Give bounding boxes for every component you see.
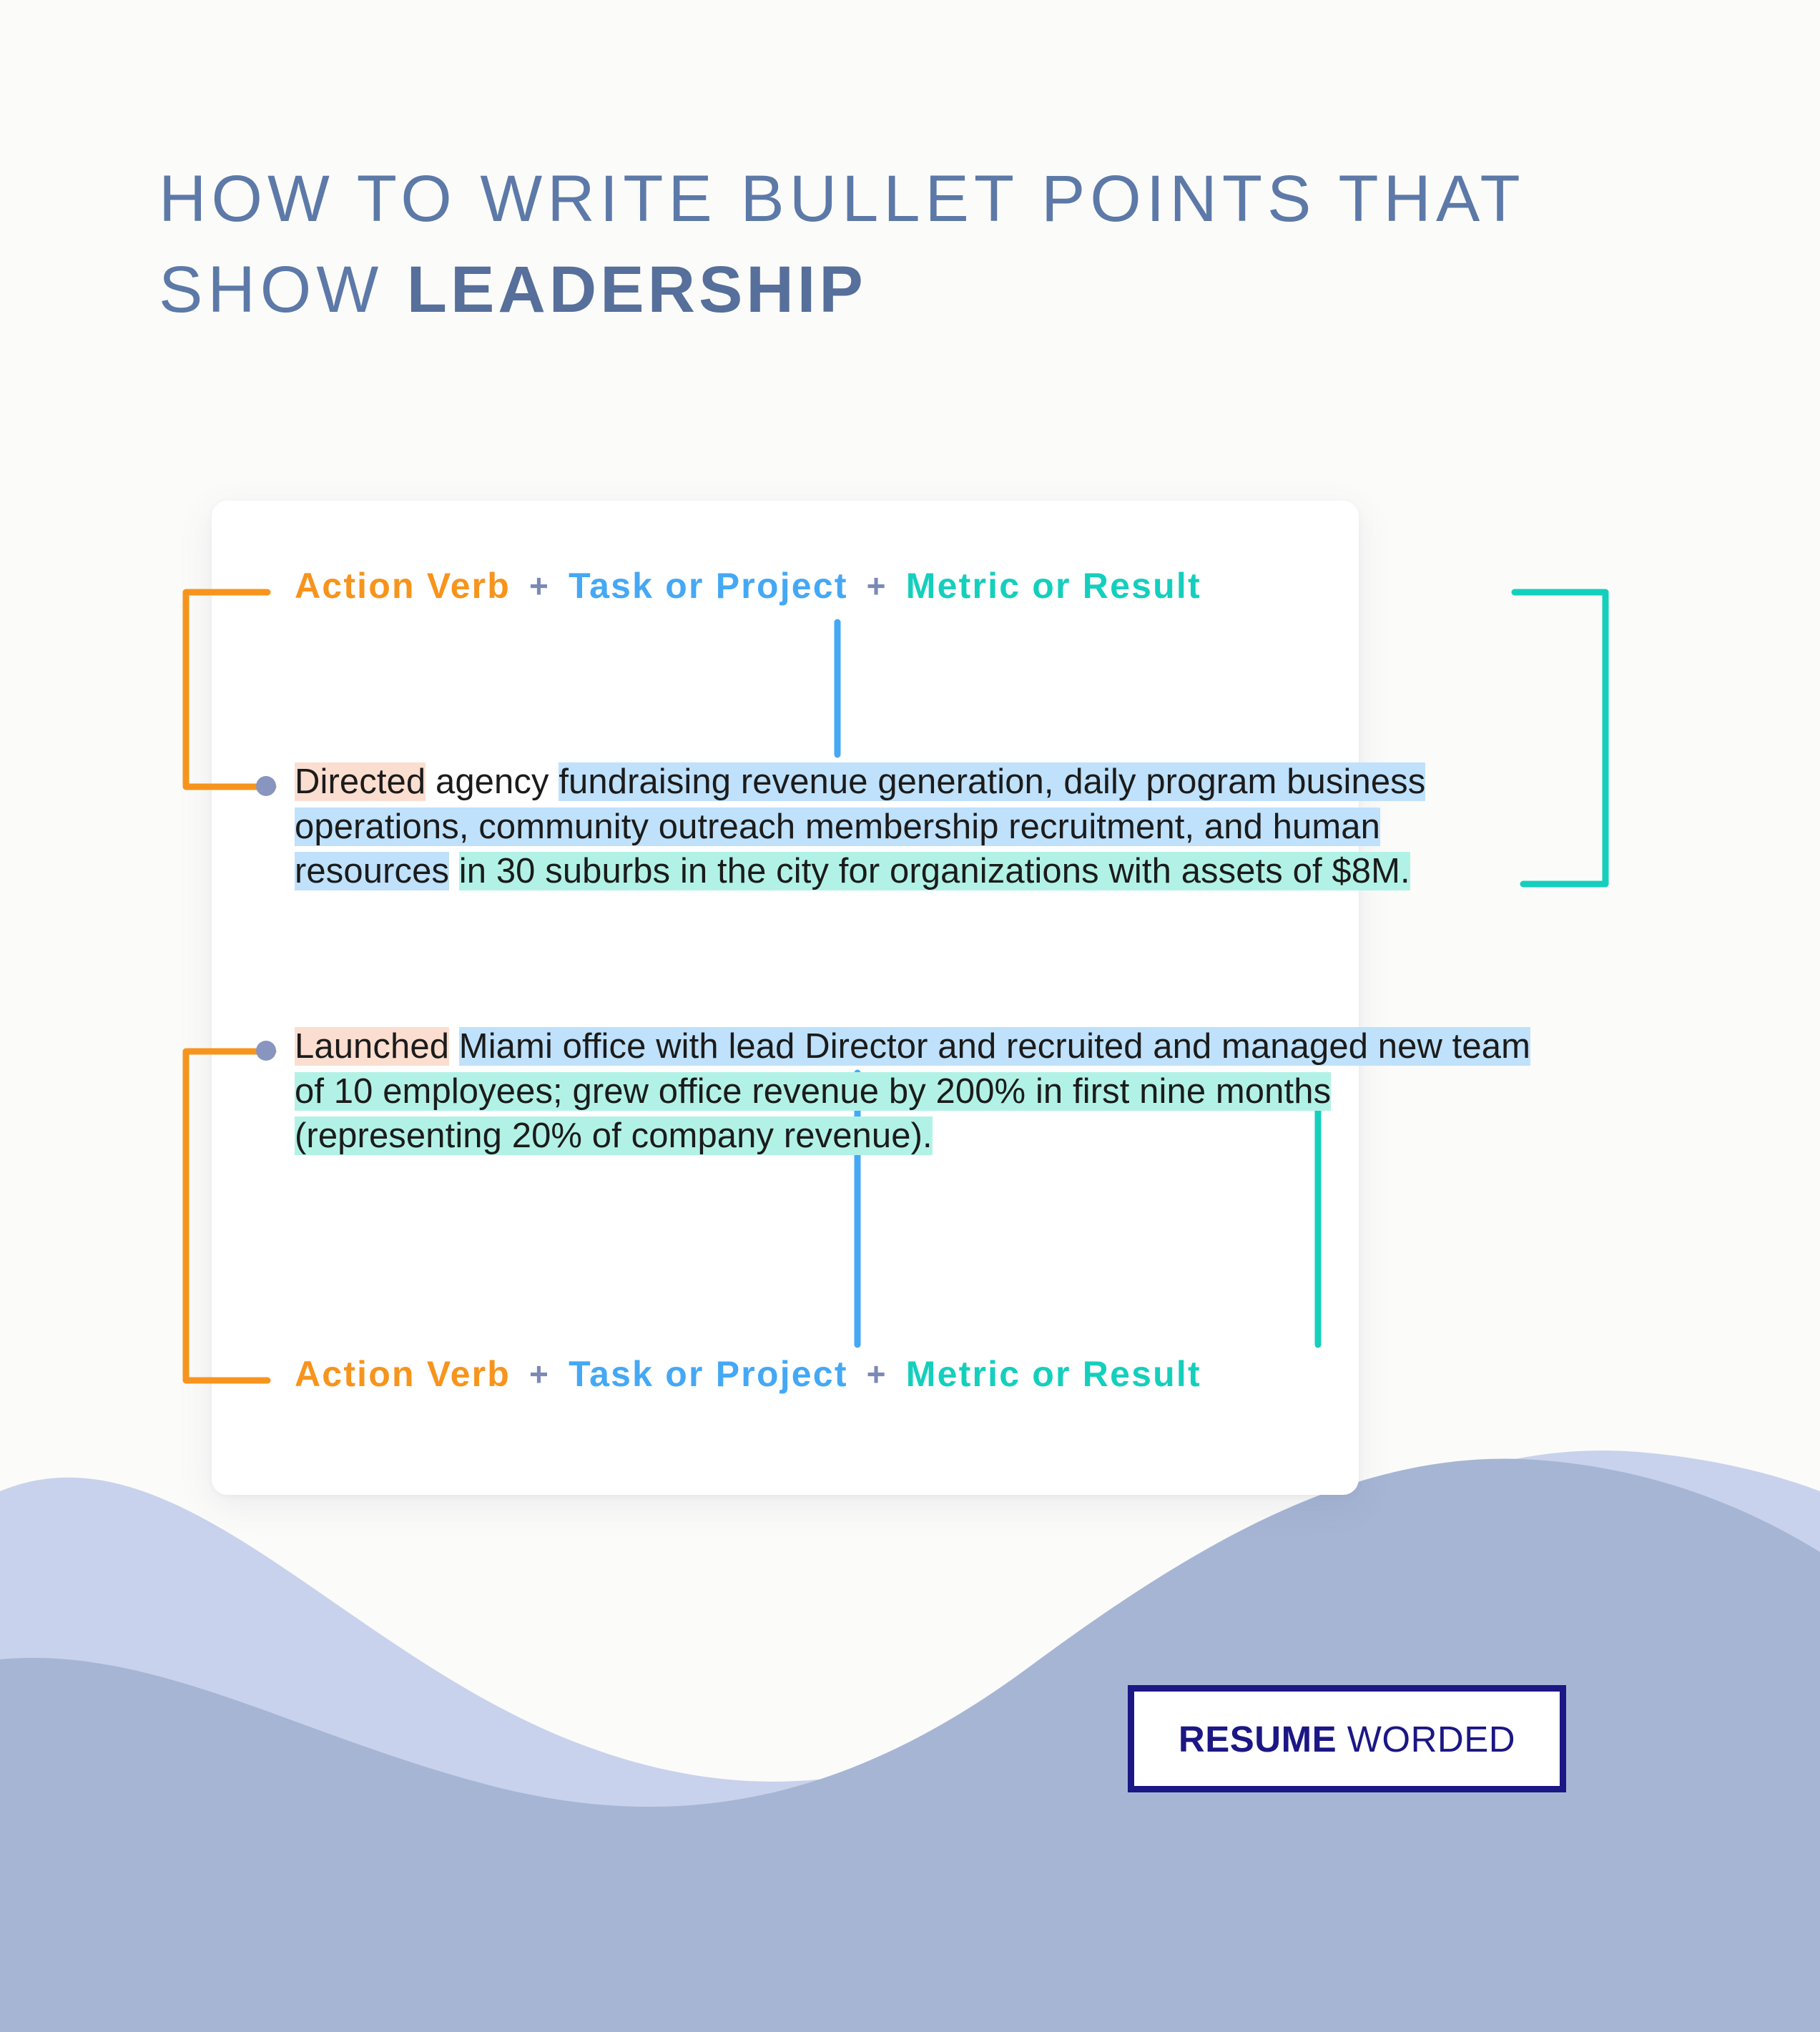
legend-top: Action Verb + Task or Project + Metric o… xyxy=(295,565,1201,607)
title-line-2-plain: SHOW xyxy=(159,253,407,326)
legend-action-verb-bottom: Action Verb xyxy=(295,1353,511,1395)
legend-task-or-project-top: Task or Project xyxy=(569,565,848,607)
bullet-point-1: Directed agency fundraising revenue gene… xyxy=(295,760,1540,894)
resume-worded-logo: RESUME WORDED xyxy=(1128,1685,1566,1792)
legend-plus-2-bottom: + xyxy=(867,1355,887,1393)
legend-bottom: Action Verb + Task or Project + Metric o… xyxy=(295,1353,1201,1395)
legend-plus-1-bottom: + xyxy=(529,1355,550,1393)
legend-plus-1-top: + xyxy=(529,566,550,605)
bullet-point-2: Launched Miami office with lead Director… xyxy=(295,1024,1540,1159)
content-card xyxy=(212,501,1359,1495)
legend-metric-or-result-bottom: Metric or Result xyxy=(906,1353,1201,1395)
bullet-2-action-verb: Launched xyxy=(295,1027,449,1066)
bullet-1-metric: in 30 suburbs in the city for organizati… xyxy=(459,852,1410,890)
bullet-1-space xyxy=(449,852,459,890)
page-title: HOW TO WRITE BULLET POINTS THAT SHOW LEA… xyxy=(159,154,1589,335)
logo-regular-part: WORDED xyxy=(1337,1719,1515,1759)
bullet-1-gap: agency xyxy=(426,762,559,801)
legend-action-verb-top: Action Verb xyxy=(295,565,511,607)
bullet-2-task: Miami office with lead Director and recr… xyxy=(459,1027,1530,1066)
bullet-2-gap xyxy=(449,1027,459,1066)
bullet-1-action-verb: Directed xyxy=(295,762,426,801)
legend-metric-or-result-top: Metric or Result xyxy=(906,565,1201,607)
legend-plus-2-top: + xyxy=(867,566,887,605)
title-line-1: HOW TO WRITE BULLET POINTS THAT xyxy=(159,162,1525,235)
title-line-2-bold: LEADERSHIP xyxy=(407,253,867,326)
logo-text: RESUME WORDED xyxy=(1179,1718,1515,1760)
bullet-dot-1 xyxy=(256,776,276,796)
bullet-dot-2 xyxy=(256,1041,276,1061)
legend-task-or-project-bottom: Task or Project xyxy=(569,1353,848,1395)
bullet-2-metric: of 10 employees; grew office revenue by … xyxy=(295,1072,1331,1156)
logo-bold-part: RESUME xyxy=(1179,1719,1337,1759)
